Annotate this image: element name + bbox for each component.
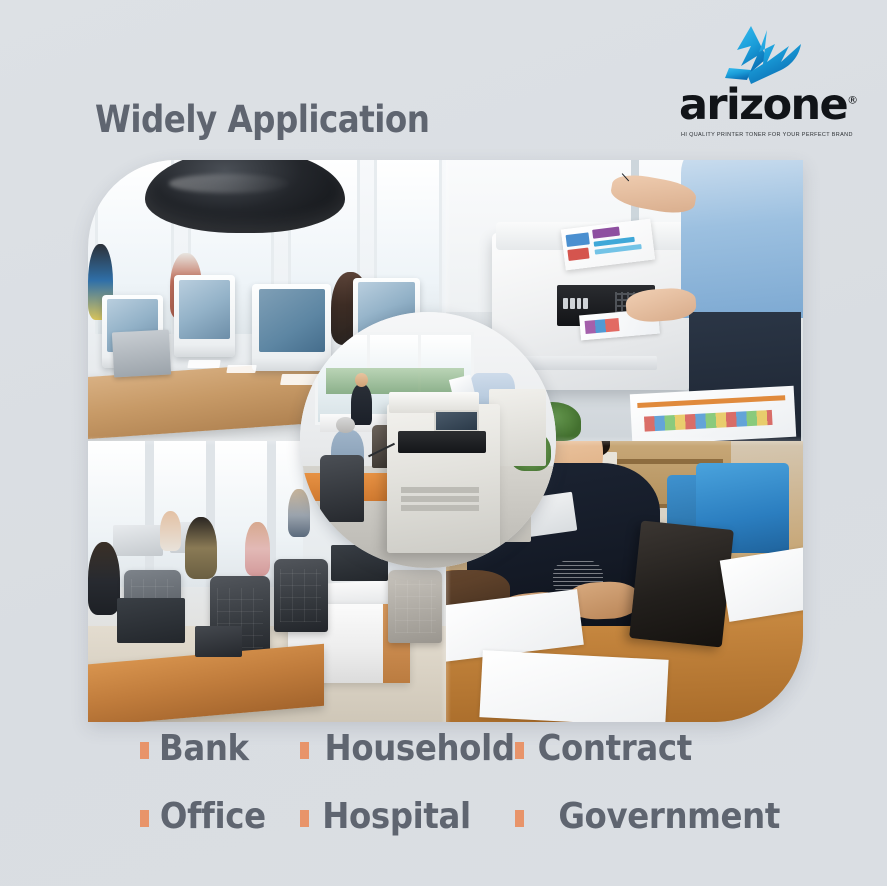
keyword-item-office: Office (140, 796, 300, 837)
keyword-item-bank: Bank (140, 728, 300, 769)
keyword-label: Government (558, 796, 780, 837)
brand-name: arizone (679, 80, 847, 130)
keyword-label: Hospital (322, 796, 471, 837)
brand-tagline: HI QUALITY PRINTER TONER FOR YOUR PERFEC… (681, 132, 842, 138)
keyword-item-government: Government (515, 796, 792, 837)
bullet-icon (515, 742, 524, 759)
application-keyword-list: Bank Household Contract Office Hospital (140, 728, 840, 864)
keyword-label: Household (325, 728, 515, 769)
brand-wordmark: arizone® (679, 84, 839, 127)
registered-mark: ® (847, 94, 858, 107)
bullet-icon (300, 742, 309, 759)
flying-bird-icon (707, 22, 803, 88)
brand-logo: arizone® HI QUALITY PRINTER TONER FOR YO… (679, 22, 839, 140)
application-collage (88, 160, 803, 722)
bullet-icon (515, 810, 524, 827)
keyword-item-hospital: Hospital (300, 796, 515, 837)
keyword-label: Office (160, 796, 266, 837)
bullet-icon (140, 810, 149, 827)
keyword-item-contract: Contract (515, 728, 700, 769)
keyword-label: Contract (538, 728, 692, 769)
keyword-item-household: Household (300, 728, 515, 769)
collage-overlay-copier-room (300, 312, 556, 568)
keyword-row: Office Hospital Government (140, 796, 840, 864)
bullet-icon (140, 742, 149, 759)
bullet-icon (300, 810, 309, 827)
poster-page: arizone® HI QUALITY PRINTER TONER FOR YO… (0, 0, 887, 886)
page-title: Widely Application (95, 98, 429, 141)
keyword-row: Bank Household Contract (140, 728, 840, 796)
keyword-label: Bank (159, 728, 249, 769)
